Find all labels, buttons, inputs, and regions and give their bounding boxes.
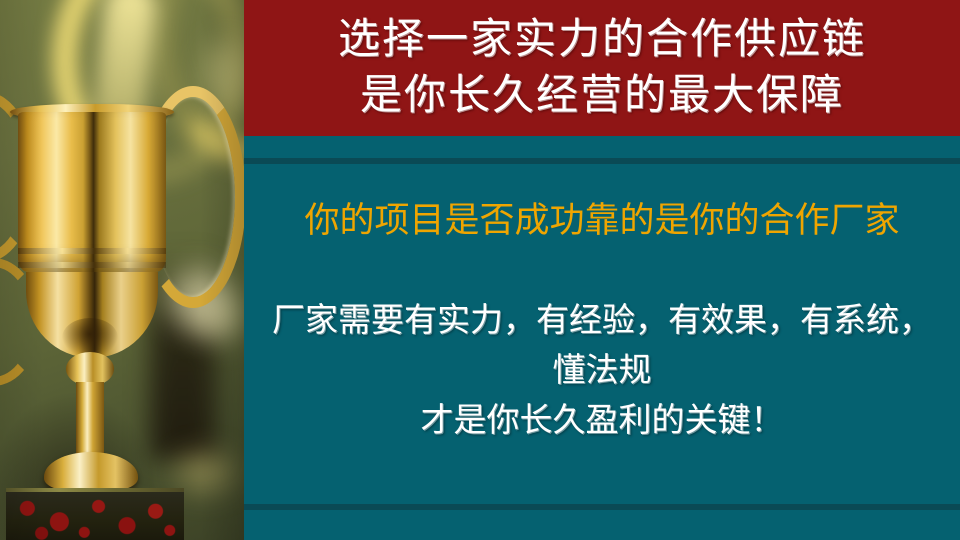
trophy-photo [0,0,244,540]
body-panel: 你的项目是否成功靠的是你的合作厂家 厂家需要有实力，有经验，有效果，有系统， 懂… [244,136,960,540]
title-banner: 选择一家实力的合作供应链 是你长久经营的最大保障 [244,0,960,136]
bokeh-highlight-3 [176,452,234,492]
body-line-1: 厂家需要有实力，有经验，有效果，有系统， [250,296,954,346]
title-line-2: 是你长久经营的最大保障 [360,68,844,124]
title-line-1: 选择一家实力的合作供应链 [338,12,866,68]
trophy-band-upper [18,248,166,254]
slide-canvas: 选择一家实力的合作供应链 是你长久经营的最大保障 你的项目是否成功靠的是你的合作… [0,0,960,540]
subheading: 你的项目是否成功靠的是你的合作厂家 [244,198,960,244]
trophy-stem-knob [66,352,114,386]
body-line-2: 懂法规 [250,346,954,396]
trophy-band-lower [18,262,166,268]
pedestal-base [6,492,184,540]
divider-bottom [244,504,960,510]
body-line-3: 才是你长久盈利的关键！ [250,396,954,446]
body-text-block: 厂家需要有实力，有经验，有效果，有系统， 懂法规 才是你长久盈利的关键！ [250,296,954,446]
divider-top [244,158,960,164]
content-area: 选择一家实力的合作供应链 是你长久经营的最大保障 你的项目是否成功靠的是你的合作… [244,0,960,540]
